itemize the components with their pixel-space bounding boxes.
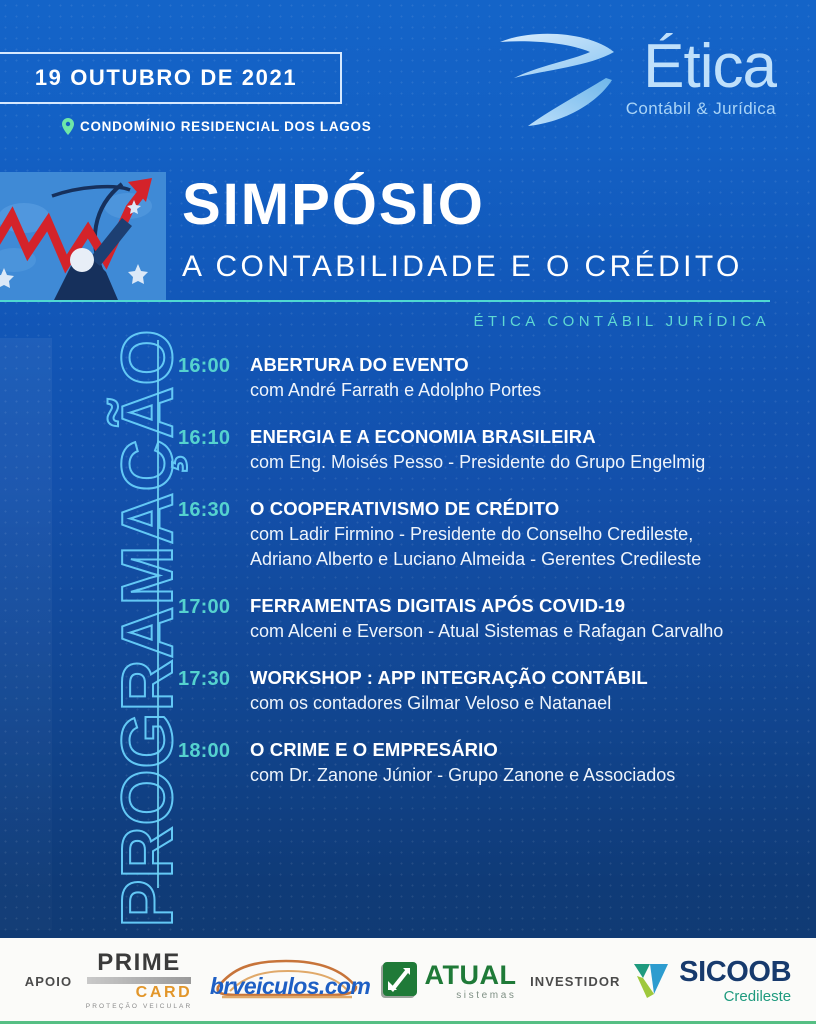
investor-label: INVESTIDOR — [530, 974, 620, 989]
atual-name: ATUAL — [424, 962, 516, 989]
event-poster: 19 OUTUBRO DE 2021 CONDOMÍNIO RESIDENCIA… — [0, 0, 816, 1024]
schedule-description: com Alceni e Everson - Atual Sistemas e … — [250, 619, 798, 645]
sicoob-wordmark: SICOOB Credileste — [679, 958, 791, 1004]
prime-name: PRIME — [97, 951, 181, 975]
schedule-description: com os contadores Gilmar Veloso e Natana… — [250, 691, 798, 717]
brand-tagline: Contábil & Jurídica — [626, 99, 776, 119]
sponsor-logo-brveiculos: brveiculos.com — [206, 957, 366, 1005]
page-title: SIMPÓSIO — [182, 176, 485, 234]
sponsor-footer: APOIO PRIME CARD PROTEÇÃO VEICULAR brvei… — [0, 938, 816, 1024]
title-divider — [0, 300, 770, 302]
etica-swoosh-logo-icon — [494, 26, 622, 130]
atual-wordmark: ATUAL sistemas — [424, 962, 516, 1001]
sicoob-sub: Credileste — [724, 989, 792, 1004]
schedule-item: 16:30 O COOPERATIVISMO DE CRÉDITO com La… — [178, 496, 798, 573]
title-tagline: ÉTICA CONTÁBIL JURÍDICA — [473, 313, 770, 330]
prime-tagline: PROTEÇÃO VEICULAR — [86, 1004, 193, 1011]
atual-sub: sistemas — [456, 991, 516, 1001]
sicoob-name: SICOOB — [679, 958, 791, 987]
schedule-time: 18:00 — [178, 737, 250, 766]
brand-name: Ética — [643, 37, 776, 98]
brveiculos-name: brveiculos.com — [210, 973, 370, 1000]
schedule-title: O COOPERATIVISMO DE CRÉDITO — [250, 496, 798, 522]
sicoob-mark-icon — [634, 962, 674, 1000]
schedule-item: 16:10 ENERGIA E A ECONOMIA BRASILEIRA co… — [178, 424, 798, 476]
schedule-description: com Eng. Moisés Pesso - Presidente do Gr… — [250, 450, 798, 476]
schedule-body: O COOPERATIVISMO DE CRÉDITO com Ladir Fi… — [250, 496, 798, 573]
sponsor-logo-sicoob-credileste: SICOOB Credileste — [634, 958, 791, 1004]
schedule-time: 16:00 — [178, 352, 250, 381]
schedule-time: 17:30 — [178, 665, 250, 694]
schedule-body: ENERGIA E A ECONOMIA BRASILEIRA com Eng.… — [250, 424, 798, 476]
support-label: APOIO — [25, 974, 72, 989]
sponsor-logo-prime-card: PRIME CARD PROTEÇÃO VEICULAR — [86, 951, 193, 1011]
section-label: PROGRAMAÇÃO — [107, 329, 189, 928]
schedule-time: 16:30 — [178, 496, 250, 525]
event-date: 19 OUTUBRO DE 2021 — [35, 65, 297, 91]
schedule-divider-line — [157, 340, 159, 888]
atual-mark-icon — [379, 961, 419, 1001]
schedule-body: FERRAMENTAS DIGITAIS APÓS COVID-19 com A… — [250, 593, 798, 645]
schedule-item: 17:30 WORKSHOP : APP INTEGRAÇÃO CONTÁBIL… — [178, 665, 798, 717]
poster-title-block: SIMPÓSIO A CONTABILIDADE E O CRÉDITO ÉTI… — [0, 170, 816, 340]
schedule-title: WORKSHOP : APP INTEGRAÇÃO CONTÁBIL — [250, 665, 798, 691]
schedule-time: 16:10 — [178, 424, 250, 453]
event-date-box: 19 OUTUBRO DE 2021 — [0, 52, 342, 104]
schedule-body: O CRIME E O EMPRESÁRIO com Dr. Zanone Jú… — [250, 737, 798, 789]
prime-card-word: CARD — [136, 985, 193, 1001]
schedule-description: com Ladir Firmino - Presidente do Consel… — [250, 522, 798, 573]
sponsor-logo-atual-sistemas: ATUAL sistemas — [379, 961, 516, 1001]
schedule-time: 17:00 — [178, 593, 250, 622]
schedule-title: O CRIME E O EMPRESÁRIO — [250, 737, 798, 763]
schedule-list: 16:00 ABERTURA DO EVENTO com André Farra… — [178, 352, 798, 788]
event-venue: CONDOMÍNIO RESIDENCIAL DOS LAGOS — [62, 118, 371, 135]
etica-brand-logo: Ética Contábil & Jurídica — [494, 26, 776, 130]
archer-growth-arrow-illustration — [0, 172, 166, 300]
page-subtitle: A CONTABILIDADE E O CRÉDITO — [182, 252, 743, 282]
left-accent-band — [0, 338, 52, 930]
location-pin-icon — [62, 118, 74, 135]
schedule-body: ABERTURA DO EVENTO com André Farrath e A… — [250, 352, 798, 404]
schedule-body: WORKSHOP : APP INTEGRAÇÃO CONTÁBIL com o… — [250, 665, 798, 717]
schedule-title: ENERGIA E A ECONOMIA BRASILEIRA — [250, 424, 798, 450]
brand-wordmark: Ética Contábil & Jurídica — [626, 37, 776, 119]
venue-name: CONDOMÍNIO RESIDENCIAL DOS LAGOS — [80, 119, 371, 134]
schedule-description: com André Farrath e Adolpho Portes — [250, 378, 798, 404]
schedule-description: com Dr. Zanone Júnior - Grupo Zanone e A… — [250, 763, 798, 789]
schedule-title: ABERTURA DO EVENTO — [250, 352, 798, 378]
schedule-title: FERRAMENTAS DIGITAIS APÓS COVID-19 — [250, 593, 798, 619]
schedule-item: 16:00 ABERTURA DO EVENTO com André Farra… — [178, 352, 798, 404]
schedule-item: 17:00 FERRAMENTAS DIGITAIS APÓS COVID-19… — [178, 593, 798, 645]
archer-artwork-svg — [0, 172, 166, 300]
sponsor-row: APOIO PRIME CARD PROTEÇÃO VEICULAR brvei… — [0, 938, 816, 1024]
poster-header: 19 OUTUBRO DE 2021 CONDOMÍNIO RESIDENCIA… — [0, 0, 816, 160]
schedule-item: 18:00 O CRIME E O EMPRESÁRIO com Dr. Zan… — [178, 737, 798, 789]
prime-bar-icon — [87, 977, 191, 984]
